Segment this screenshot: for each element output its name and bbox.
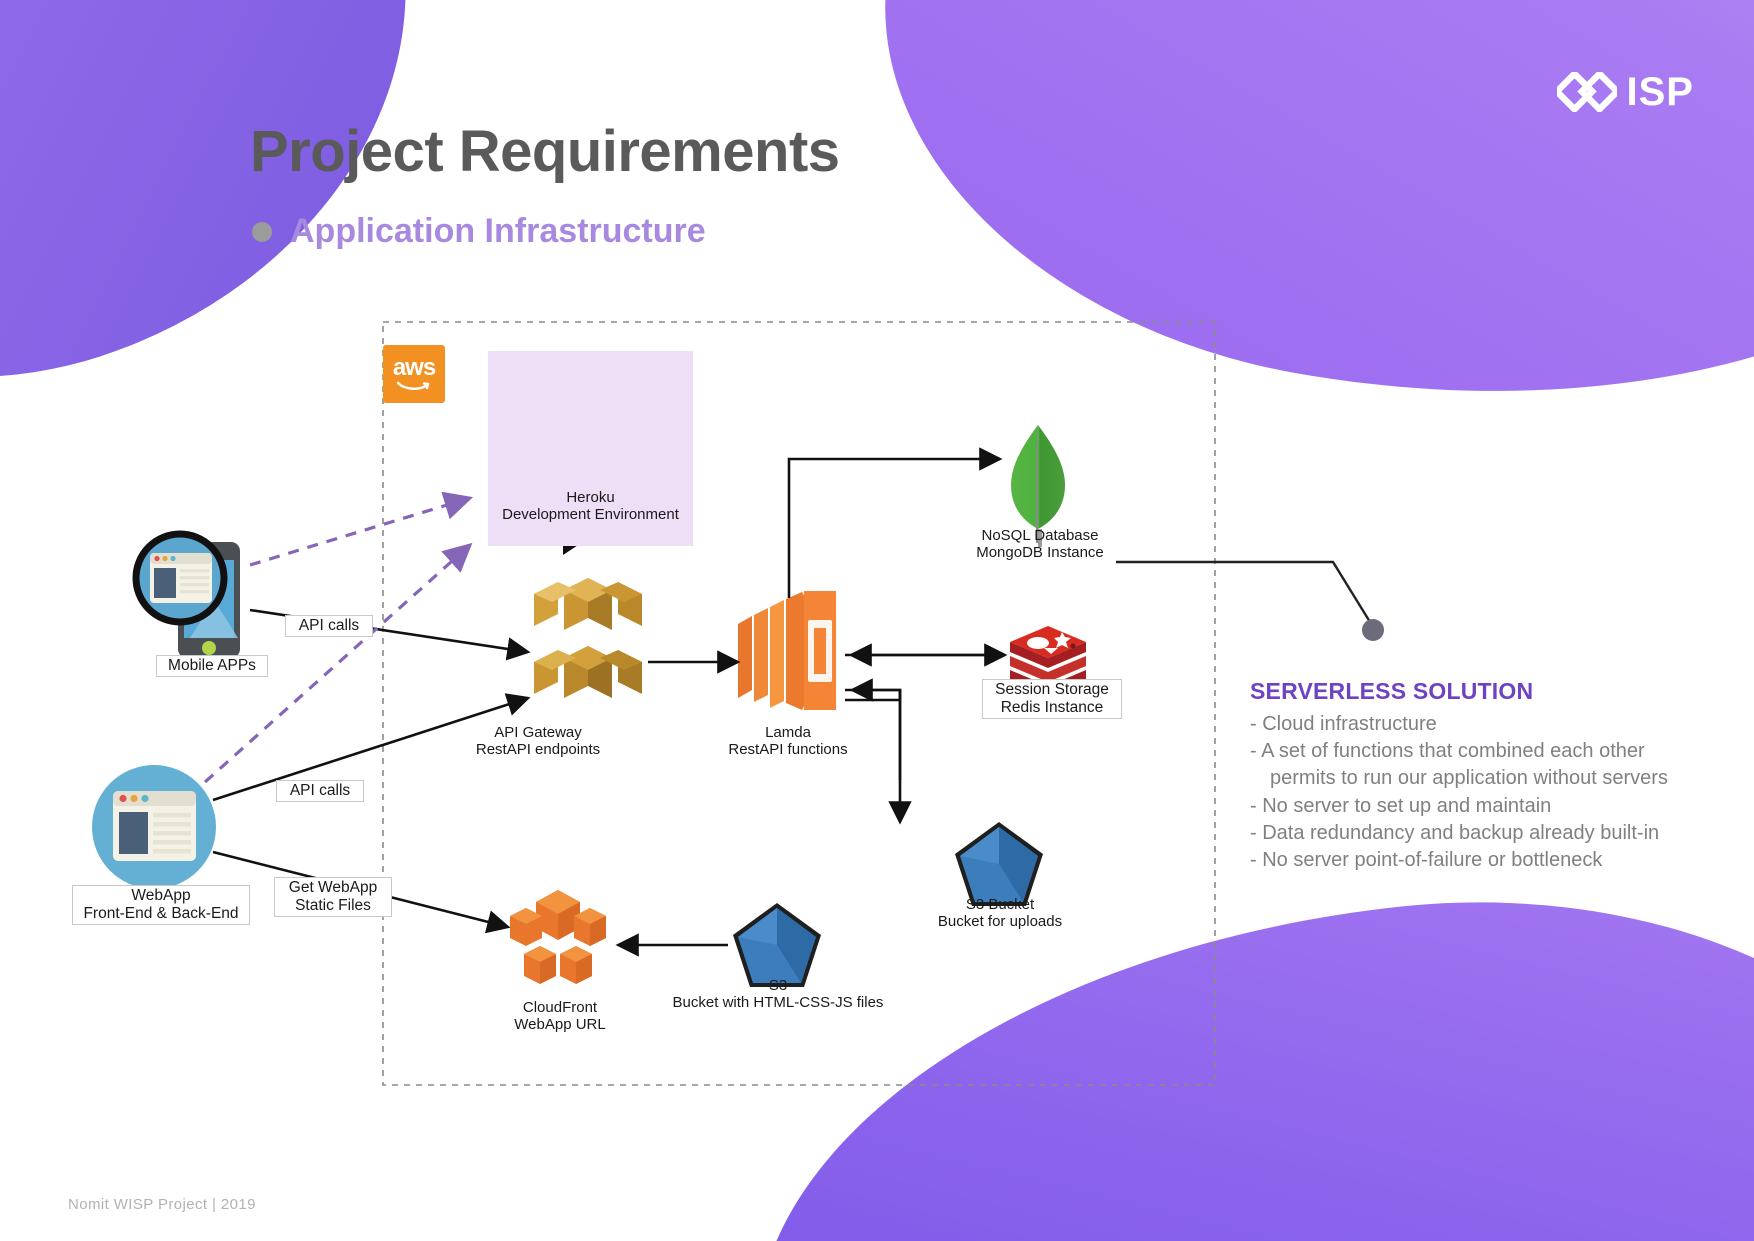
serverless-line-2: permits to run our application without s… (1250, 765, 1720, 792)
api-gateway-icon (534, 578, 642, 698)
serverless-solution-block: SERVERLESS SOLUTION - Cloud infrastructu… (1250, 678, 1720, 874)
serverless-line-5: - No server point-of-failure or bottlene… (1250, 847, 1720, 874)
redis-label: Session Storage Redis Instance (982, 679, 1122, 719)
webapp-label: WebApp Front-End & Back-End (72, 885, 250, 925)
serverless-line-0: - Cloud infrastructure (1250, 711, 1720, 738)
lambda-icon (738, 591, 836, 710)
heroku-dashed-connectors (205, 498, 470, 782)
s3-uploads-label: S3 Bucket Bucket for uploads (905, 897, 1095, 931)
serverless-callout-line (1116, 562, 1384, 641)
edge-label-api-calls-web: API calls (276, 780, 364, 802)
cloudfront-label: CloudFront WebApp URL (470, 1000, 650, 1034)
s3-static-label: S3 Bucket with HTML-CSS-JS files (642, 978, 914, 1012)
lambda-label: Lamda RestAPI functions (700, 725, 876, 759)
aws-logo-text: aws (393, 357, 435, 379)
webapp-icon (92, 765, 216, 889)
serverless-line-1: - A set of functions that combined each … (1250, 738, 1720, 765)
api-gateway-label: API Gateway RestAPI endpoints (448, 725, 628, 759)
footer-text: Nomit WISP Project | 2019 (68, 1196, 256, 1213)
serverless-line-4: - Data redundancy and backup already bui… (1250, 820, 1720, 847)
s3-uploads-icon (955, 822, 1043, 906)
aws-logo: aws (383, 345, 445, 403)
aws-swoosh-icon (397, 379, 431, 391)
cloudfront-icon (510, 890, 606, 984)
s3-static-icon (733, 903, 821, 987)
mobile-apps-label: Mobile APPs (156, 655, 268, 677)
serverless-line-3: - No server to set up and maintain (1250, 793, 1720, 820)
diagram-svg (0, 0, 1754, 1241)
heroku-label: Heroku Development Environment (488, 490, 693, 524)
architecture-diagram: aws Heroku Development Environment Mobil… (0, 0, 1754, 1241)
serverless-title: SERVERLESS SOLUTION (1250, 678, 1720, 705)
edge-label-get-static-files: Get WebApp Static Files (274, 877, 392, 917)
mongodb-label: NoSQL Database MongoDB Instance (940, 528, 1140, 562)
mobile-app-icon (136, 534, 240, 658)
edge-label-api-calls-mobile: API calls (285, 615, 373, 637)
